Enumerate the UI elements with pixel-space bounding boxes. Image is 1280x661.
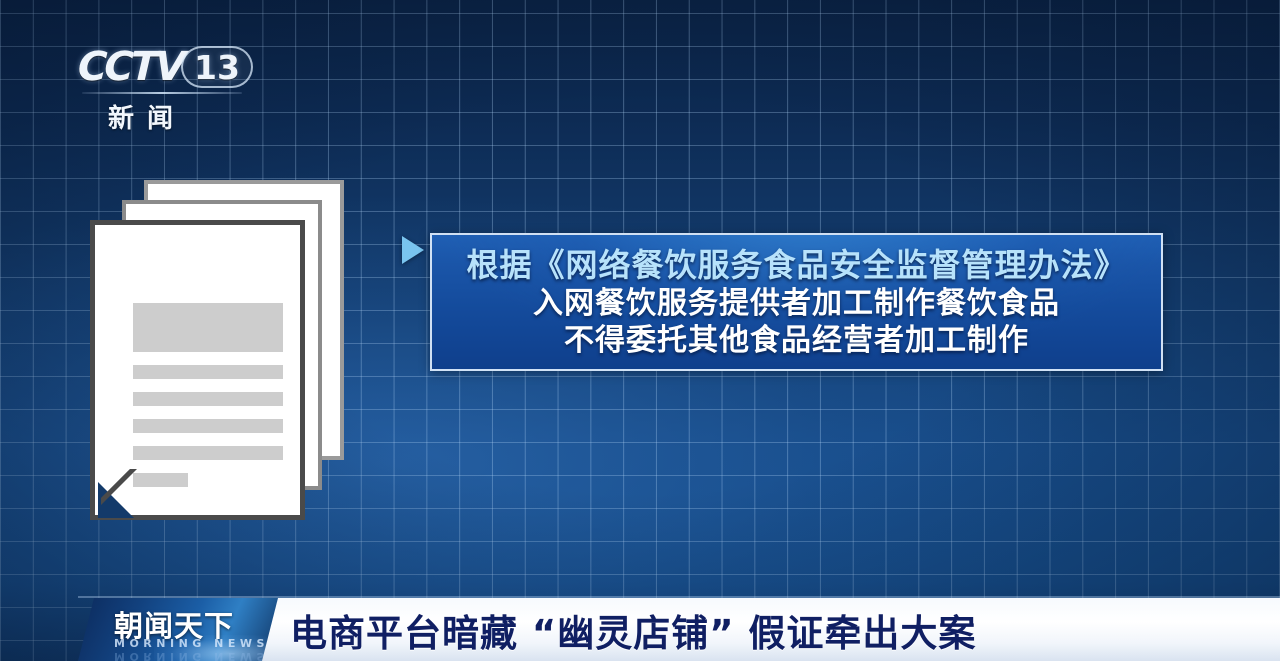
headline-text: 电商平台暗藏 “幽灵店铺” 假证牵出大案	[290, 603, 976, 657]
channel-logo: CCTV 13 新闻	[78, 48, 268, 134]
callout-line-3: 不得委托其他食品经营者加工制作	[564, 325, 1029, 357]
headline-bar: 电商平台暗藏 “幽灵店铺” 假证牵出大案	[262, 598, 1280, 661]
document-sheet-front	[90, 220, 305, 520]
banner-top-rule	[78, 596, 1280, 598]
channel-logo-row: CCTV 13	[78, 48, 268, 92]
channel-number: 13	[194, 48, 240, 87]
document-text-bars	[133, 303, 283, 487]
lower-third-banner: 朝闻天下 MORNING NEWS MORNING NEWS 电商平台暗藏 “幽…	[0, 598, 1280, 661]
document-bar-line	[133, 446, 283, 460]
stacked-documents-icon	[82, 180, 382, 540]
callout-line-2: 入网餐饮服务提供者加工制作餐饮食品	[533, 288, 1060, 320]
cctv-wordmark: CCTV	[77, 44, 184, 90]
program-logo-box: 朝闻天下 MORNING NEWS MORNING NEWS	[78, 598, 278, 661]
document-bar-line	[133, 419, 283, 433]
program-subtitle: MORNING NEWS	[114, 637, 269, 650]
document-fold-edge	[101, 469, 147, 515]
document-bar-title	[133, 303, 283, 352]
broadcast-screen: CCTV 13 新闻 根据《网络餐饮服务食品安全监督管理办法》 入网餐饮	[0, 0, 1280, 661]
program-subtitle-reflection: MORNING NEWS	[114, 650, 269, 661]
document-bar-line	[133, 392, 283, 406]
triangle-right-icon	[402, 236, 424, 264]
channel-name: 新闻	[108, 98, 186, 135]
logo-divider	[82, 92, 242, 94]
document-bar-line	[133, 365, 283, 379]
regulation-callout-box: 根据《网络餐饮服务食品安全监督管理办法》 入网餐饮服务提供者加工制作餐饮食品 不…	[430, 233, 1163, 371]
callout-line-1: 根据《网络餐饮服务食品安全监督管理办法》	[466, 249, 1126, 283]
